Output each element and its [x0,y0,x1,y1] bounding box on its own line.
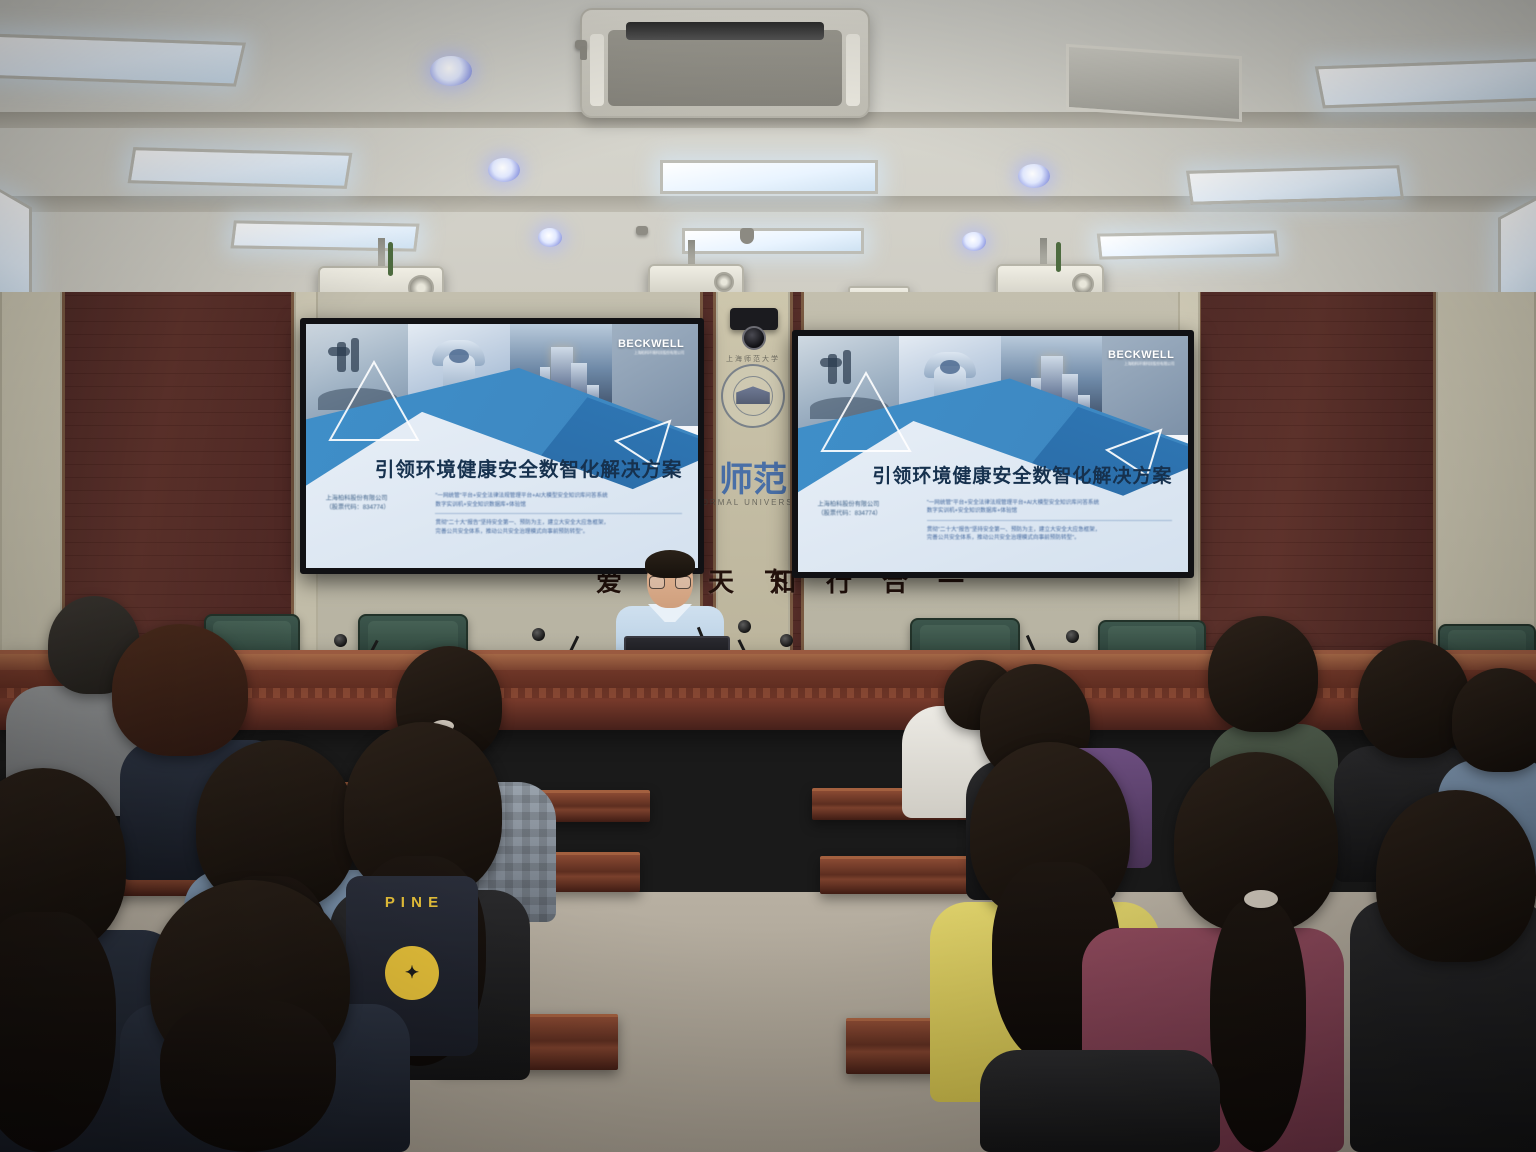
slide-left: BECKWELL 上海柏科环境科技股份有限公司 引领环境健康安全数智化解决方案 … [306,324,698,568]
lens-shape [940,360,960,374]
ceiling-panel-light [1315,58,1536,109]
projection-screen-right[interactable]: BECKWELL 上海柏科环境科技股份有限公司 引领环境健康安全数智化解决方案 … [792,330,1194,578]
ceiling-downlight [962,232,986,251]
audience-member-head [112,624,248,756]
ceiling-panel-light [1097,230,1279,259]
triangle-svg [818,369,914,455]
ceiling-panel-light [0,33,246,86]
slide-divider [435,513,682,514]
equipment-shape [328,347,350,356]
lecture-hall-scene: 上海师范大学 师范 NORMAL UNIVERSITY 爱 满 天 下 知 行 … [0,0,1536,1152]
projector-cable [388,242,393,276]
projector-mount-pole [378,238,385,268]
slide-brand-logo: BECKWELL 上海柏科环境科技股份有限公司 [618,339,684,356]
ceiling-downlight [538,228,562,247]
slide-body-line-1: "一网统管"平台+安全法律法规管理平台+AI大模型安全知识库问答系统 [927,499,1173,507]
slide-title: 引领环境健康安全数智化解决方案 [306,453,682,482]
projector-mount-pole [1040,238,1047,266]
projector-lens [714,272,734,292]
audience-long-hair [160,1000,336,1152]
ceiling-panel-light [660,160,878,194]
smoke-detector [636,226,648,235]
audience-ponytail [1210,900,1306,1152]
sprinkler-head [740,228,754,244]
ac-vent-louver [626,22,824,40]
triangle-decor-left [818,369,914,460]
audience-member-torso [980,1050,1220,1152]
slide-body-line-3: 贯彻"二十大"报告"坚持安全第一、预防为主，建立大安全大应急框架， [927,526,1173,534]
brand-name: BECKWELL [618,339,684,350]
ceiling-air-vent [1066,44,1242,122]
slide-company-block: 上海柏科股份有限公司 （股票代码：834774） [326,495,390,513]
ac-corner-vent [590,34,604,106]
sprinkler-head [580,46,587,60]
ac-inner-panel [608,30,842,106]
seal-chinese-text: 师范 [719,452,787,501]
wall-camera [730,308,778,330]
brand-subtitle: 上海柏科环境科技股份有限公司 [618,352,684,356]
slide-company-block: 上海柏科股份有限公司 （股票代码：834774） [818,501,882,519]
university-seal [721,364,785,428]
slide-brand-logo: BECKWELL 上海柏科环境科技股份有限公司 [1108,350,1174,367]
slide-body-line-4: 完善公共安全体系，推动公共安全治理模式向事前预防转型"。 [435,528,682,536]
mic-capsule [532,628,545,641]
equipment-shape [820,358,842,367]
company-stock-code: （股票代码：834774） [818,510,882,519]
ceiling-downlight [1018,164,1050,188]
projection-screen-left[interactable]: BECKWELL 上海柏科环境科技股份有限公司 引领环境健康安全数智化解决方案 … [300,318,704,574]
projector-mount-pole [688,240,695,266]
backpack-logo-badge: ✦ [385,946,439,1000]
air-conditioner-unit [580,8,870,118]
mic-capsule [780,634,793,647]
slide-title: 引领环境健康安全数智化解决方案 [798,461,1172,488]
hair-tie [1244,890,1278,908]
company-name: 上海柏科股份有限公司 [818,501,882,510]
audience-member-head [1452,668,1536,772]
slide-body-line-3: 贯彻"二十大"报告"坚持安全第一、预防为主，建立大安全大应急框架， [435,519,682,527]
ceiling-panel-light [128,147,353,189]
audience-desk [820,856,990,894]
ceiling-panel-light [1186,165,1404,205]
slide-body-line-2: 数字实训机+安全知识数据库+体验馆 [435,501,682,509]
ceiling-panel-light [682,228,864,254]
brand-subtitle: 上海柏科环境科技股份有限公司 [1108,363,1174,367]
audience-member-head [1208,616,1318,732]
slide-right: BECKWELL 上海柏科环境科技股份有限公司 引领环境健康安全数智化解决方案 … [798,336,1188,572]
backpack-brand-text: P I N E [385,894,439,911]
mic-capsule [1066,630,1079,643]
ceiling [0,0,1536,300]
seal-top-text: 上海师范大学 [726,354,780,364]
slide-body-line-4: 完善公共安全体系，推动公共安全治理模式向事前预防转型"。 [927,534,1173,542]
ac-corner-vent [846,34,860,106]
slide-body-line-1: "一网统管"平台+安全法律法规管理平台+AI大模型安全知识库问答系统 [435,492,682,500]
triangle-svg [326,358,422,444]
slide-divider [927,520,1173,521]
brand-name: BECKWELL [1108,350,1174,361]
mic-capsule [334,634,347,647]
ceiling-downlight [488,158,520,182]
projector-cable [1056,242,1061,272]
slide-body-line-2: 数字实训机+安全知识数据库+体验馆 [927,507,1173,515]
company-stock-code: （股票代码：834774） [326,504,390,513]
slide-body-block: "一网统管"平台+安全法律法规管理平台+AI大模型安全知识库问答系统 数字实训机… [927,499,1173,543]
presenter-hair [645,550,695,578]
ceiling-downlight [430,56,472,86]
company-name: 上海柏科股份有限公司 [326,495,390,504]
slide-body-block: "一网统管"平台+安全法律法规管理平台+AI大模型安全知识库问答系统 数字实训机… [435,492,682,536]
audience-member-head [1376,790,1536,962]
lens-shape [449,349,469,363]
